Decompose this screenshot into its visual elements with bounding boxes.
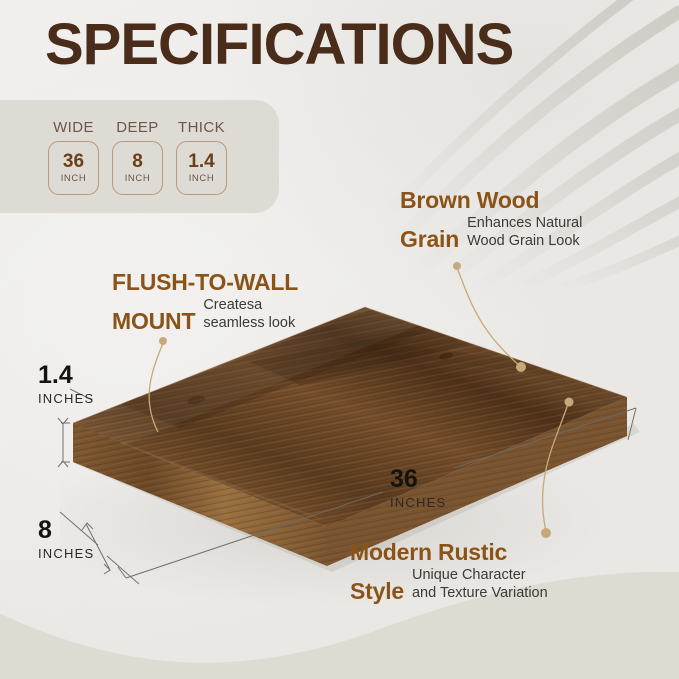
dimension-unit-width: INCHES <box>390 495 446 510</box>
callout-title-style-line2: Style <box>350 579 404 605</box>
callout-brown-wood-grain: Brown Wood Grain Enhances Natural Wood G… <box>400 188 582 253</box>
callout-sub-style-line2: and Texture Variation <box>412 584 548 603</box>
dimension-value-thickness: 1.4 <box>38 363 94 388</box>
dimension-label-depth: 8 INCHES <box>38 518 94 561</box>
callout-sub-style-line1: Unique Character <box>412 566 548 585</box>
spec-label-wide: WIDE <box>53 119 94 136</box>
callout-flush-to-wall-mount: FLUSH-TO-WALL MOUNT Createsa seamless lo… <box>112 270 298 335</box>
dimension-value-width: 36 <box>390 467 446 492</box>
dimension-label-width: 36 INCHES <box>390 467 446 510</box>
callout-title-style-line1: Modern Rustic <box>350 540 548 566</box>
spec-value-thick: 1.4 <box>188 152 214 171</box>
spec-value-deep: 8 <box>132 152 143 171</box>
spec-unit-wide: INCH <box>61 174 87 184</box>
spec-box-thick: 1.4 INCH <box>176 141 227 195</box>
dimension-value-depth: 8 <box>38 518 94 543</box>
callout-title-mount-line2: MOUNT <box>112 309 195 335</box>
spec-value-wide: 36 <box>63 152 84 171</box>
spec-label-deep: DEEP <box>116 119 158 136</box>
dimension-label-thickness: 1.4 INCHES <box>38 363 94 406</box>
page-title: SPECIFICATIONS <box>45 16 513 74</box>
callout-sub-mount-line1: Createsa <box>203 296 295 315</box>
dimension-unit-thickness: INCHES <box>38 391 94 406</box>
spec-box-wide: 36 INCH <box>48 141 99 195</box>
callout-title-mount-line1: FLUSH-TO-WALL <box>112 270 298 296</box>
spec-item-thick: THICK 1.4 INCH <box>176 119 227 195</box>
callout-sub-grain-line1: Enhances Natural <box>467 214 582 233</box>
callout-modern-rustic-style: Modern Rustic Style Unique Character and… <box>350 540 548 605</box>
spec-unit-thick: INCH <box>189 174 215 184</box>
spec-item-deep: DEEP 8 INCH <box>112 119 163 195</box>
callout-sub-grain-line2: Wood Grain Look <box>467 232 582 251</box>
specification-infographic: SPECIFICATIONS WIDE 36 INCH DEEP 8 INCH … <box>0 0 679 679</box>
specifications-summary-card: WIDE 36 INCH DEEP 8 INCH THICK 1.4 INCH <box>0 100 279 213</box>
spec-unit-deep: INCH <box>125 174 151 184</box>
spec-item-wide: WIDE 36 INCH <box>48 119 99 195</box>
callout-title-grain-line1: Brown Wood <box>400 188 582 214</box>
spec-label-thick: THICK <box>178 119 225 136</box>
callout-sub-mount-line2: seamless look <box>203 314 295 333</box>
callout-title-grain-line2: Grain <box>400 227 459 253</box>
dimension-unit-depth: INCHES <box>38 546 94 561</box>
spec-box-deep: 8 INCH <box>112 141 163 195</box>
